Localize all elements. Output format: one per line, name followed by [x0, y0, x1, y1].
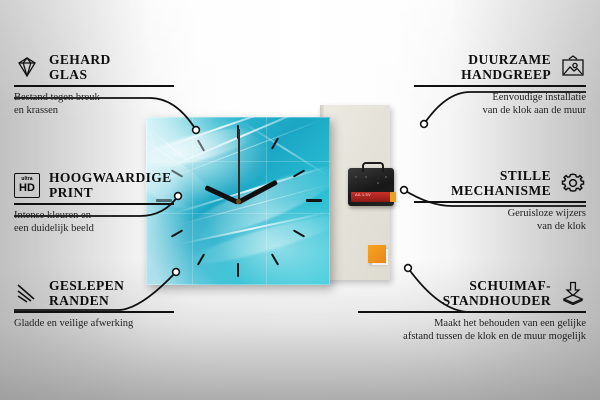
feature-description: Gladde en veilige afwerking	[14, 317, 174, 330]
beveled-edges-icon	[14, 281, 40, 305]
feature-description: Intense kleuren en een duidelijk beeld	[14, 209, 174, 235]
feature-stille-mechanisme: STILLE MECHANISME Geruisloze wijzers van…	[414, 168, 586, 233]
feature-title: STILLE MECHANISME	[451, 168, 551, 198]
feature-gehard-glas: GEHARD GLAS Bestand tegen breuk en krass…	[14, 52, 174, 117]
ultra-hd-main-label: HD	[19, 183, 35, 194]
clock-tick	[237, 263, 239, 277]
clock-movement: AA 1.5V	[348, 168, 394, 206]
ultra-hd-icon: ultra HD	[14, 173, 40, 197]
glass-reflection-line	[192, 117, 193, 285]
feature-geslepen-randen: GESLEPEN RANDEN Gladde en veilige afwerk…	[14, 278, 174, 330]
feature-description: Eenvoudige installatie van de klok aan d…	[414, 91, 586, 117]
feature-description: Bestand tegen breuk en krassen	[14, 91, 174, 117]
foam-spacer-pad	[368, 245, 386, 263]
feature-rule	[14, 203, 174, 205]
infographic-canvas: AA 1.5V	[0, 0, 600, 400]
feature-title: DUURZAME HANDGREEP	[461, 52, 551, 82]
ultra-hd-top-label: ultra	[21, 177, 32, 182]
clock-tick	[271, 253, 279, 265]
battery-label: AA 1.5V	[355, 192, 371, 197]
clock-hub	[236, 199, 241, 204]
diamond-icon	[14, 55, 40, 79]
feature-hoogwaardige-print: ultra HD HOOGWAARDIGE PRINT Intense kleu…	[14, 170, 174, 235]
feature-title: GEHARD GLAS	[49, 52, 111, 82]
feature-rule	[14, 311, 174, 313]
feature-description: Geruisloze wijzers van de klok	[414, 207, 586, 233]
feature-schuimafstandhouder: SCHUIMAF- STANDHOUDER Maakt het behouden…	[358, 278, 586, 343]
battery: AA 1.5V	[351, 192, 391, 202]
feature-description: Maakt het behouden van een gelijke afsta…	[358, 317, 586, 343]
feature-title: HOOGWAARDIGE PRINT	[49, 170, 172, 200]
clock-second-hand	[238, 129, 240, 203]
clock-tick	[306, 199, 322, 202]
movement-detail	[352, 173, 390, 189]
feature-rule	[414, 85, 586, 87]
movement-hanger-icon	[362, 162, 384, 172]
glass-reflection-line	[266, 117, 267, 285]
artwork-streak	[241, 121, 327, 176]
feature-rule	[358, 311, 586, 313]
picture-frame-icon	[560, 55, 586, 79]
feature-duurzame-handgreep: DUURZAME HANDGREEP Eenvoudige installati…	[414, 52, 586, 117]
feature-title: SCHUIMAF- STANDHOUDER	[443, 278, 551, 308]
press-pad-icon	[560, 281, 586, 305]
gear-icon	[560, 171, 586, 195]
feature-rule	[14, 85, 174, 87]
battery-terminal	[390, 192, 396, 202]
feature-rule	[414, 201, 586, 203]
feature-title: GESLEPEN RANDEN	[49, 278, 124, 308]
